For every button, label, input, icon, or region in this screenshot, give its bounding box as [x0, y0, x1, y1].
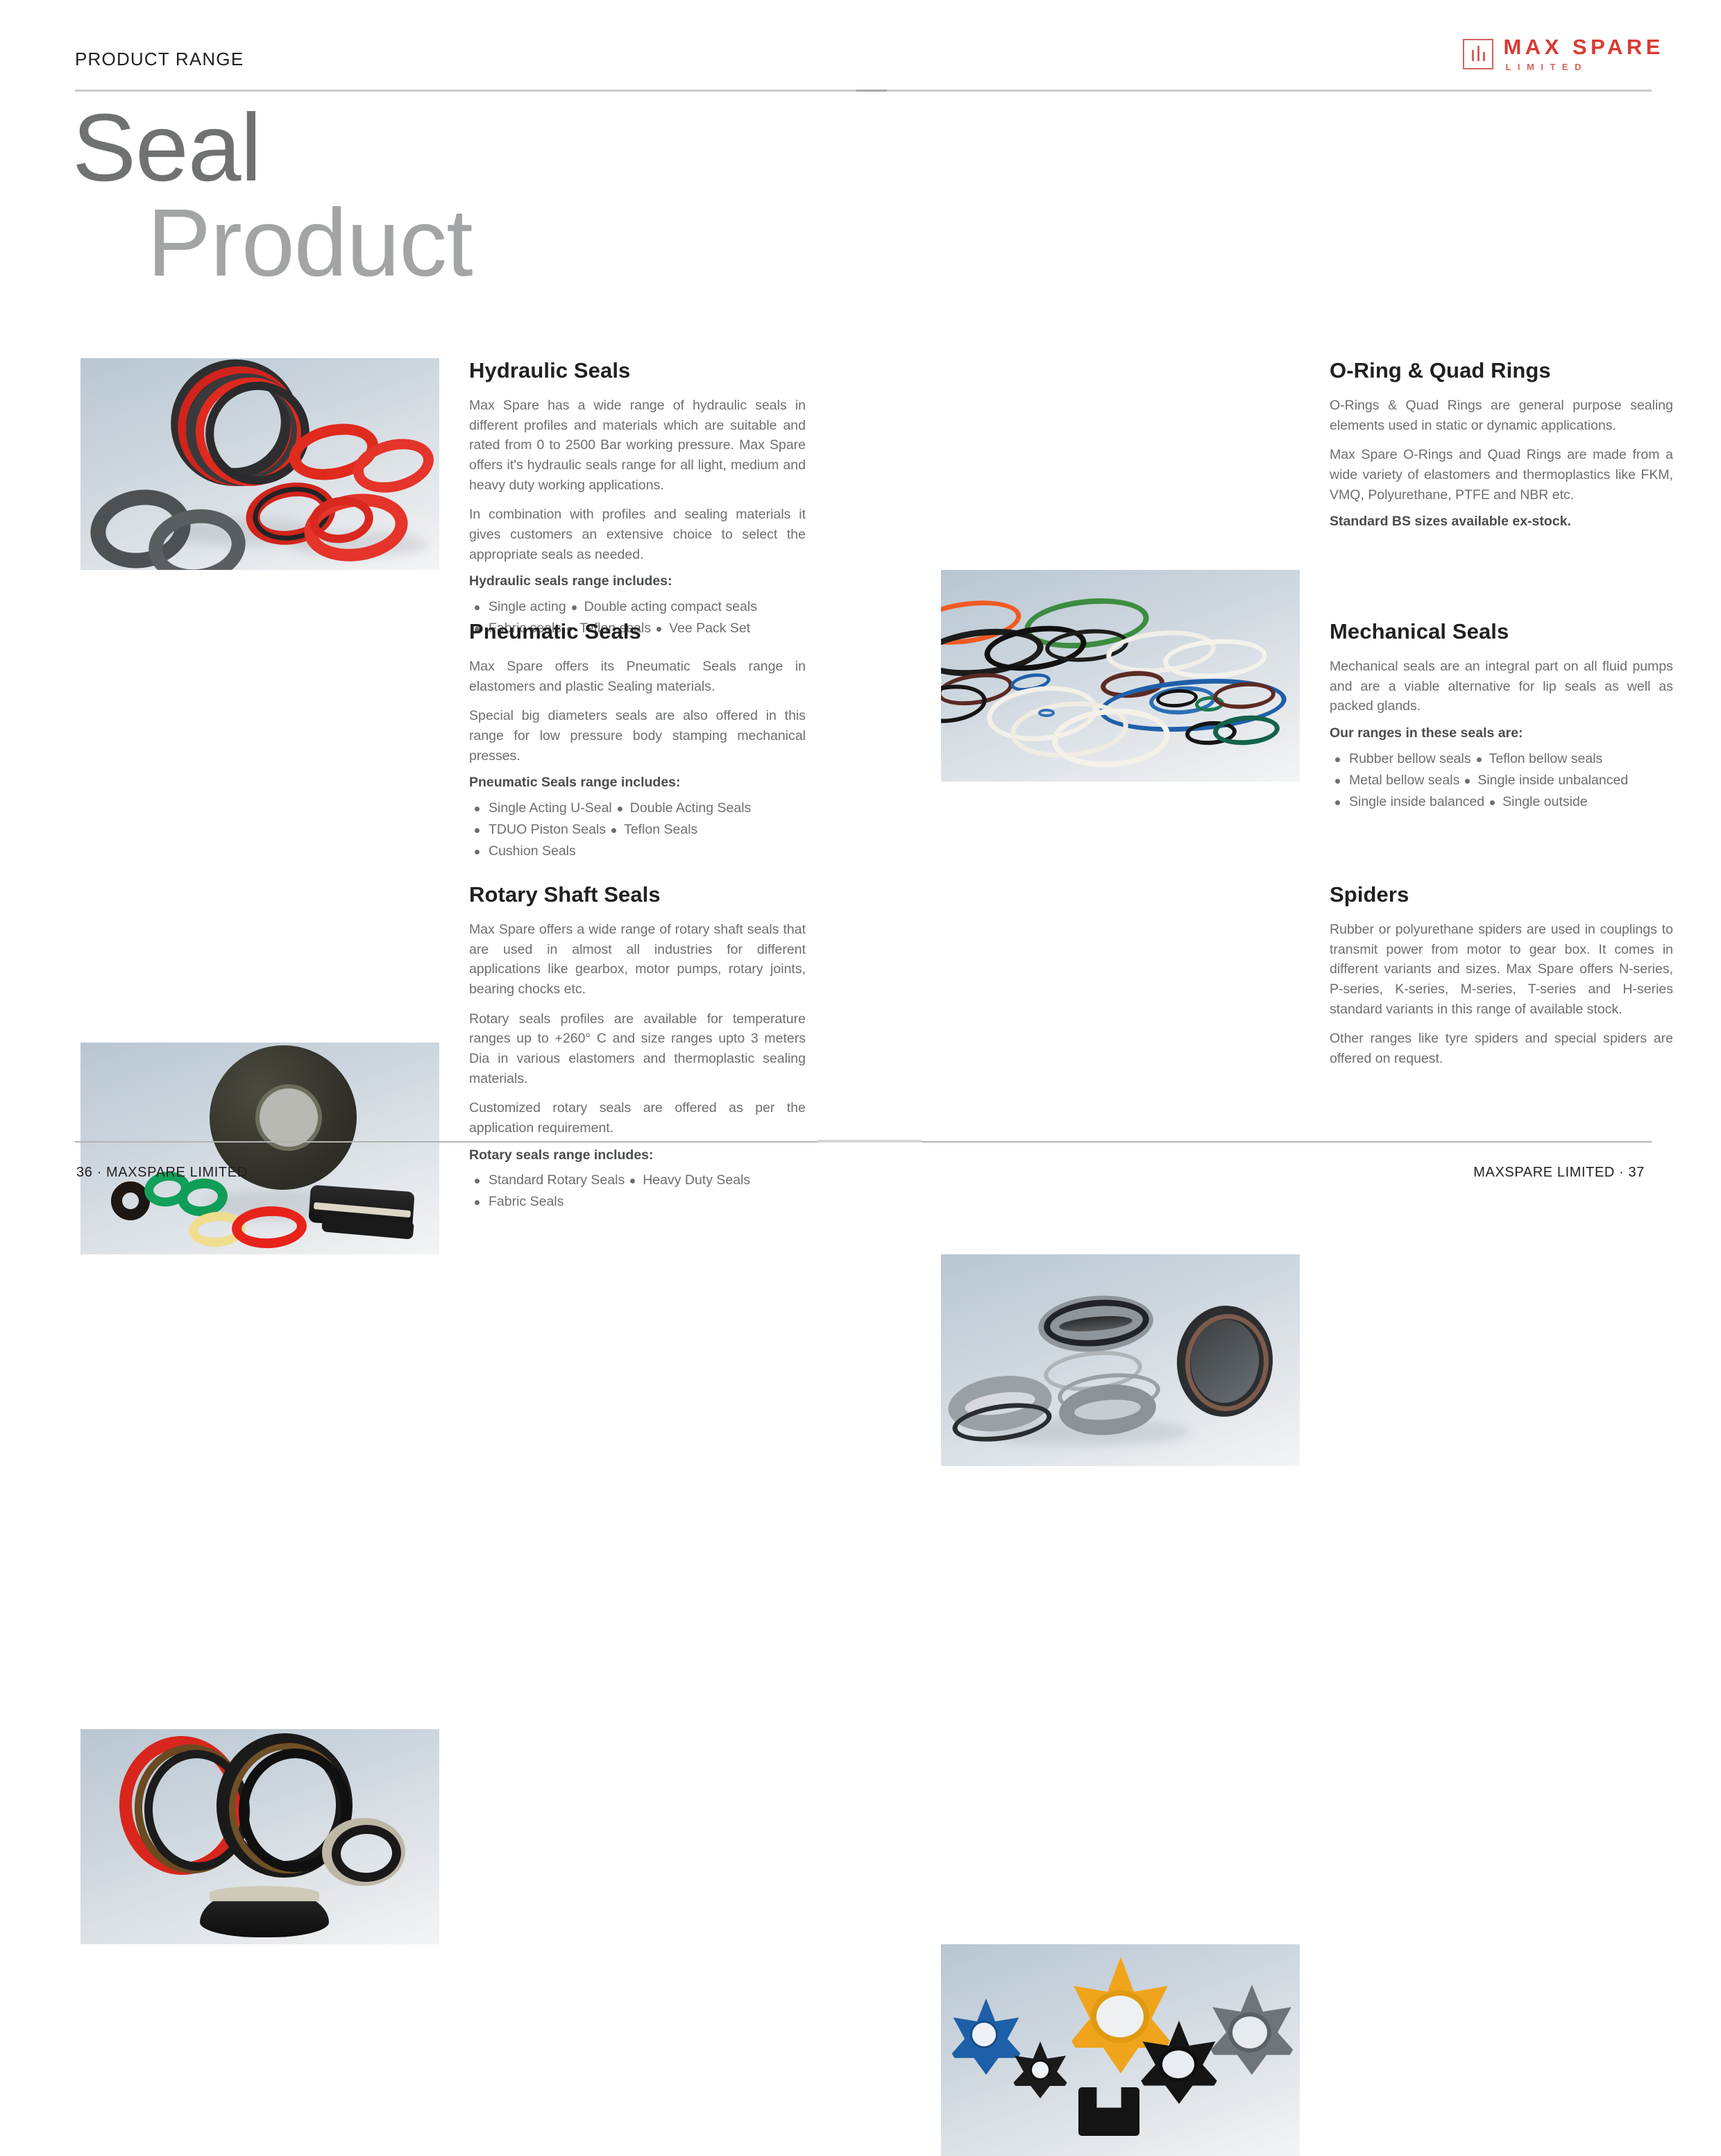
hero-title-line-1: Seal — [72, 103, 473, 194]
page-header-title: PRODUCT RANGE — [75, 49, 244, 70]
header-divider — [75, 90, 1652, 92]
pneumatic-seals-paragraph-1: Max Spare offers its Pneumatic Seals ran… — [469, 657, 806, 696]
rotary-shaft-seals-photo — [80, 1729, 439, 1944]
hero-title: Seal Product — [72, 103, 473, 289]
logo-sub-text: LIMITED — [1505, 62, 1664, 71]
rotary-shaft-seals-paragraph-1: Max Spare offers a wide range of rotary … — [469, 920, 806, 1000]
list-item: Cushion Seals — [469, 841, 806, 861]
mechanical-seals-heading: Mechanical Seals — [1330, 619, 1673, 644]
o-rings-list-lead: Standard BS sizes available ex-stock. — [1330, 512, 1673, 532]
list-item: Fabric Seals — [469, 1192, 806, 1212]
o-rings-paragraph-2: Max Spare O-Rings and Quad Rings are mad… — [1330, 445, 1673, 505]
pneumatic-seals-bullet-list: Single Acting U-SealDouble Acting Seals … — [469, 798, 806, 862]
o-rings-photo — [941, 570, 1300, 782]
pneumatic-seals-text: Pneumatic Seals Max Spare offers its Pne… — [469, 619, 806, 864]
rotary-shaft-seals-paragraph-2: Rotary seals profiles are available for … — [469, 1009, 806, 1089]
o-rings-text: O-Ring & Quad Rings O-Rings & Quad Rings… — [1330, 358, 1673, 537]
list-item: Single actingDouble acting compact seals — [469, 597, 806, 617]
rotary-shaft-seals-bullet-list: Standard Rotary SealsHeavy Duty Seals Fa… — [469, 1170, 806, 1213]
spiders-text: Spiders Rubber or polyurethane spiders a… — [1330, 882, 1673, 1076]
header-divider-gutter-mark — [856, 90, 887, 92]
footer-right-page-label: MAXSPARE LIMITED · 37 — [1473, 1165, 1645, 1181]
pneumatic-seals-paragraph-2: Special big diameters seals are also off… — [469, 706, 806, 766]
hydraulic-seals-list-lead: Hydraulic seals range includes: — [469, 571, 806, 591]
hydraulic-seals-heading: Hydraulic Seals — [469, 358, 806, 383]
list-item: Rubber bellow sealsTeflon bellow seals — [1330, 749, 1673, 769]
hydraulic-seals-paragraph-2: In combination with profiles and sealing… — [469, 505, 806, 564]
hydraulic-seals-text: Hydraulic Seals Max Spare has a wide ran… — [469, 358, 806, 640]
hero-title-line-2: Product — [147, 198, 473, 289]
o-rings-heading: O-Ring & Quad Rings — [1330, 358, 1673, 383]
maxspare-logo: MAX SPARE LIMITED — [1463, 36, 1664, 71]
mechanical-seals-paragraph-1: Mechanical seals are an integral part on… — [1330, 657, 1673, 716]
footer-divider-gutter-mark — [817, 1140, 922, 1143]
list-item: TDUO Piston SealsTeflon Seals — [469, 820, 806, 840]
mechanical-seals-text: Mechanical Seals Mechanical seals are an… — [1330, 619, 1673, 814]
list-item: Single inside balancedSingle outside — [1330, 792, 1673, 812]
logo-main-text: MAX SPARE — [1503, 36, 1664, 58]
mechanical-seals-list-lead: Our ranges in these seals are: — [1330, 723, 1673, 743]
rotary-shaft-seals-text: Rotary Shaft Seals Max Spare offers a wi… — [469, 882, 806, 1214]
hydraulic-seals-photo — [80, 358, 439, 570]
pneumatic-seals-photo — [80, 1043, 439, 1254]
pneumatic-seals-heading: Pneumatic Seals — [469, 619, 806, 644]
spiders-paragraph-2: Other ranges like tyre spiders and speci… — [1330, 1029, 1673, 1068]
hydraulic-seals-paragraph-1: Max Spare has a wide range of hydraulic … — [469, 396, 806, 495]
mechanical-seals-photo — [941, 1254, 1300, 1466]
footer-divider — [75, 1141, 1652, 1143]
rotary-shaft-seals-heading: Rotary Shaft Seals — [469, 882, 806, 907]
list-item: Standard Rotary SealsHeavy Duty Seals — [469, 1170, 806, 1190]
logo-wordmark: MAX SPARE LIMITED — [1503, 36, 1664, 71]
rotary-shaft-seals-paragraph-3: Customized rotary seals are offered as p… — [469, 1098, 806, 1138]
list-item: Metal bellow sealsSingle inside unbalanc… — [1330, 770, 1673, 791]
footer-left-page-label: 36 · MAXSPARE LIMITED — [76, 1165, 248, 1181]
rotary-shaft-seals-list-lead: Rotary seals range includes: — [469, 1145, 806, 1165]
spiders-photo — [941, 1944, 1300, 2156]
spiders-paragraph-1: Rubber or polyurethane spiders are used … — [1330, 920, 1673, 1019]
list-item: Single Acting U-SealDouble Acting Seals — [469, 798, 806, 818]
pneumatic-seals-list-lead: Pneumatic Seals range includes: — [469, 773, 806, 793]
logo-bars-icon — [1463, 39, 1493, 69]
catalog-page: PRODUCT RANGE MAX SPARE LIMITED Seal Pro… — [0, 0, 1721, 1217]
mechanical-seals-bullet-list: Rubber bellow sealsTeflon bellow seals M… — [1330, 749, 1673, 813]
o-rings-paragraph-1: O-Rings & Quad Rings are general purpose… — [1330, 396, 1673, 435]
spiders-heading: Spiders — [1330, 882, 1673, 907]
